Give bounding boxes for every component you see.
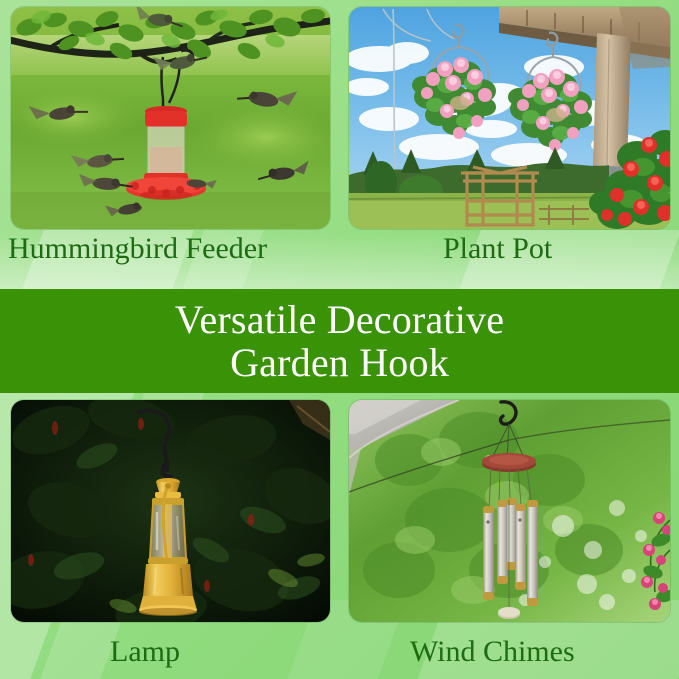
- caption-hummingbird-feeder: Hummingbird Feeder: [8, 234, 267, 264]
- plant-pot-illustration: [349, 7, 670, 229]
- caption-plant-pot: Plant Pot: [443, 234, 552, 264]
- photo-hummingbird-feeder: [11, 7, 330, 229]
- caption-lamp: Lamp: [110, 637, 180, 667]
- banner-title-line-2: Garden Hook: [230, 341, 449, 384]
- photo-plant-pot: [349, 7, 670, 229]
- hummingbird-feeder-illustration: [11, 7, 330, 229]
- title-banner: Versatile Decorative Garden Hook: [0, 289, 679, 393]
- lamp-illustration: [11, 400, 330, 622]
- wind-chimes-illustration: [349, 400, 670, 622]
- photo-wind-chimes: [349, 400, 670, 622]
- product-infographic: Hummingbird Feeder: [0, 0, 679, 679]
- banner-title-line-1: Versatile Decorative: [175, 298, 504, 341]
- photo-lamp: [11, 400, 330, 622]
- caption-wind-chimes: Wind Chimes: [410, 637, 575, 667]
